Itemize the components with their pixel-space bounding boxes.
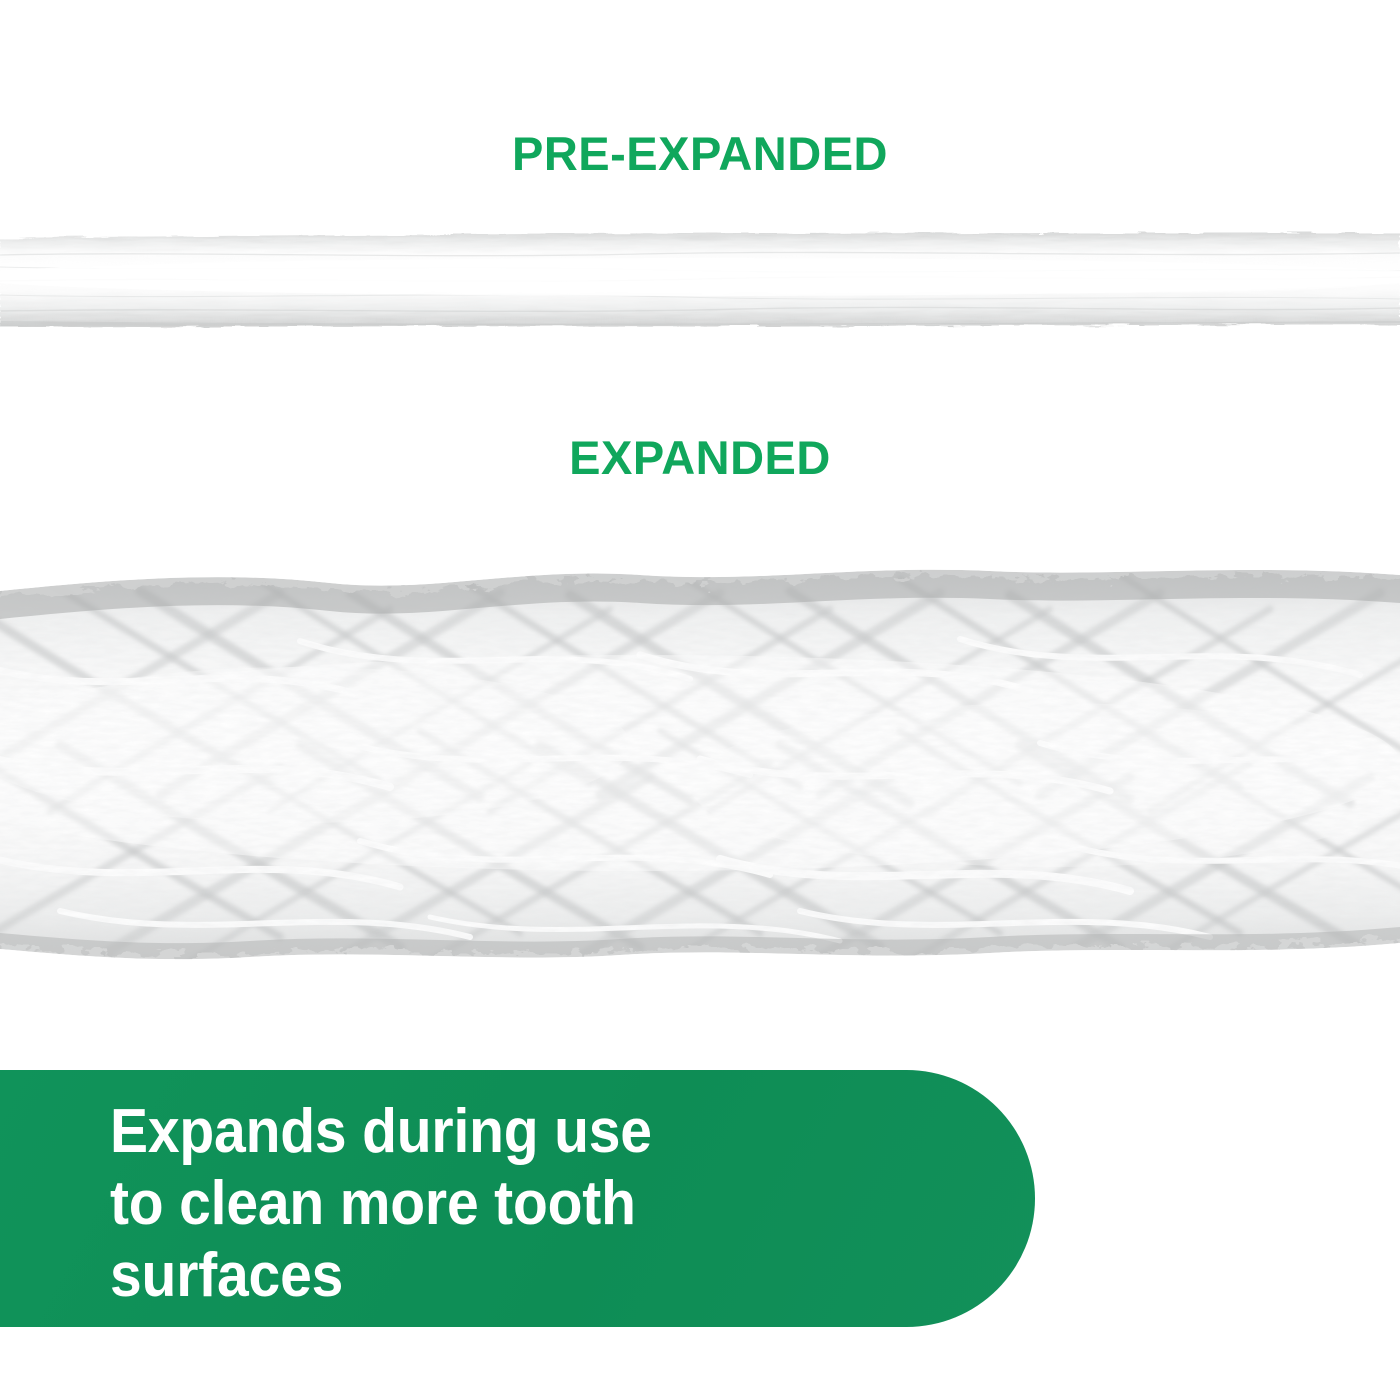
floss-strand-expanded-image: [0, 545, 1400, 985]
callout-line-3: surfaces: [110, 1240, 828, 1312]
callout-banner: Expands during use to clean more tooth s…: [0, 1070, 1035, 1327]
callout-line-2: to clean more tooth: [110, 1168, 828, 1240]
section-heading-expanded: EXPANDED: [0, 432, 1400, 484]
section-heading-pre-expanded: PRE-EXPANDED: [0, 128, 1400, 180]
callout-line-1: Expands during use: [110, 1096, 828, 1168]
product-feature-graphic: PRE-EXPANDED: [0, 0, 1400, 1400]
floss-strand-thin-image: [0, 225, 1400, 335]
callout-text: Expands during use to clean more tooth s…: [110, 1096, 828, 1312]
